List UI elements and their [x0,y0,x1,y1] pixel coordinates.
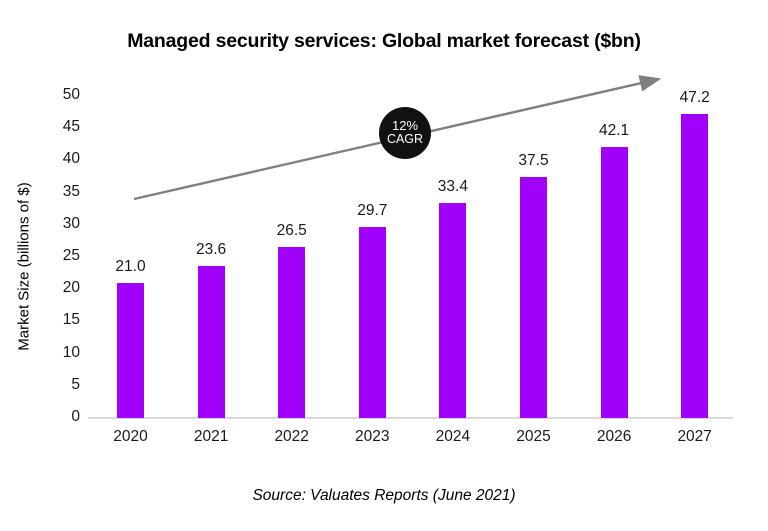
bar-2022[interactable] [278,247,305,418]
y-axis-tick-label: 0 [42,409,80,425]
x-axis-tick-label: 2020 [91,428,171,446]
bar-value-label: 47.2 [660,89,730,107]
chart-title: Managed security services: Global market… [0,30,768,53]
x-axis-tick-label: 2021 [171,428,251,446]
bar-2025[interactable] [520,177,547,419]
x-axis-tick-label: 2022 [252,428,332,446]
y-axis-tick-label: 35 [42,184,80,200]
bar-2023[interactable] [359,227,386,418]
y-axis-tick-label: 30 [42,216,80,232]
x-axis-tick-label: 2025 [494,428,574,446]
x-axis-tick-label: 2026 [574,428,654,446]
bar-value-label: 37.5 [499,152,569,170]
bar-2024[interactable] [439,203,466,418]
bar-2027[interactable] [681,114,708,418]
cagr-label: CAGR [387,133,423,147]
bar-value-label: 26.5 [257,222,327,240]
y-axis-tick-label: 40 [42,151,80,167]
source-note: Source: Valuates Reports (June 2021) [0,487,768,505]
y-axis-tick-label: 50 [42,87,80,103]
y-axis-tick-label: 5 [42,377,80,393]
bar-value-label: 33.4 [418,178,488,196]
bar-2020[interactable] [117,283,144,418]
x-axis-tick-label: 2024 [413,428,493,446]
bar-value-label: 21.0 [96,258,166,276]
bar-2021[interactable] [198,266,225,418]
y-axis-tick-label: 15 [42,312,80,328]
cagr-badge: 12% CAGR [379,107,431,159]
y-axis-tick-label: 10 [42,345,80,361]
y-axis-tick-label: 25 [42,248,80,264]
bar-value-label: 29.7 [337,202,407,220]
y-axis-tick-label: 45 [42,119,80,135]
cagr-percent: 12% [392,119,418,133]
bar-2026[interactable] [601,147,628,418]
bar-value-label: 23.6 [176,241,246,259]
y-axis-tick-label: 20 [42,280,80,296]
x-axis-tick-label: 2023 [332,428,412,446]
bar-value-label: 42.1 [579,122,649,140]
chart-container: Managed security services: Global market… [0,0,768,531]
y-axis-title: Market Size (billions of $) [16,157,33,377]
x-axis-tick-label: 2027 [655,428,735,446]
